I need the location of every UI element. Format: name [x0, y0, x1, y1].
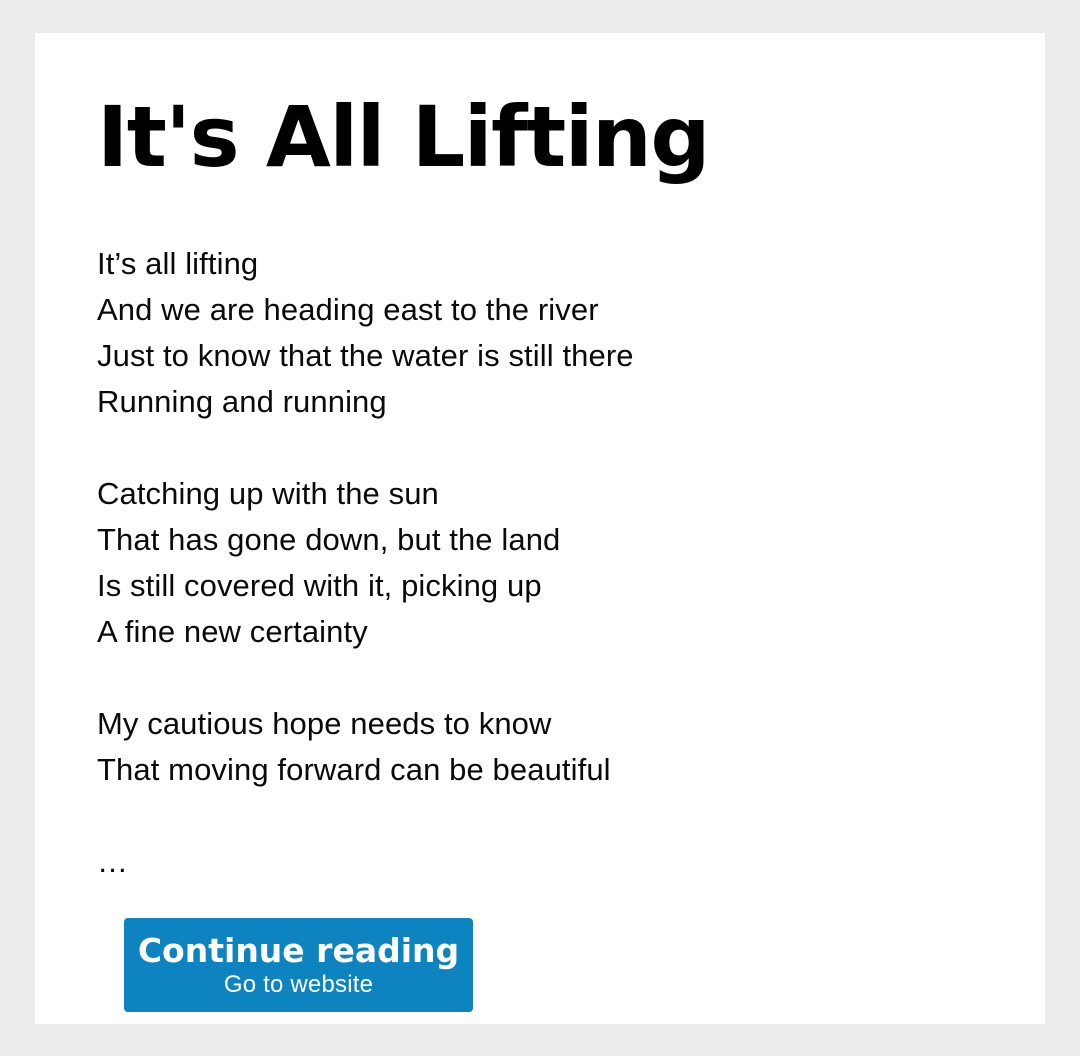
go-to-website-label: Go to website: [224, 971, 373, 999]
poem-line: Catching up with the sun: [97, 471, 977, 517]
poem-line: That moving forward can be beautiful: [97, 747, 977, 793]
poem-line: Just to know that the water is still the…: [97, 333, 977, 379]
poem-line: It’s all lifting: [97, 241, 977, 287]
poem-line: My cautious hope needs to know: [97, 701, 977, 747]
continue-reading-label: Continue reading: [138, 932, 459, 970]
poem-line: And we are heading east to the river: [97, 287, 977, 333]
page-root: It's All Lifting It’s all lifting And we…: [0, 0, 1080, 1056]
stanza-truncation: …: [97, 839, 977, 885]
poem-line: That has gone down, but the land: [97, 517, 977, 563]
poem-line: Running and running: [97, 379, 977, 425]
continue-reading-button[interactable]: Continue reading Go to website: [124, 918, 473, 1012]
stanza: My cautious hope needs to know That movi…: [97, 701, 977, 793]
poem-body: It’s all lifting And we are heading east…: [97, 241, 977, 885]
article-card: It's All Lifting It’s all lifting And we…: [35, 33, 1045, 1024]
truncation-ellipsis: …: [97, 839, 977, 885]
page-title: It's All Lifting: [97, 95, 709, 179]
poem-line: Is still covered with it, picking up: [97, 563, 977, 609]
stanza: Catching up with the sun That has gone d…: [97, 471, 977, 655]
stanza: It’s all lifting And we are heading east…: [97, 241, 977, 425]
poem-line: A fine new certainty: [97, 609, 977, 655]
